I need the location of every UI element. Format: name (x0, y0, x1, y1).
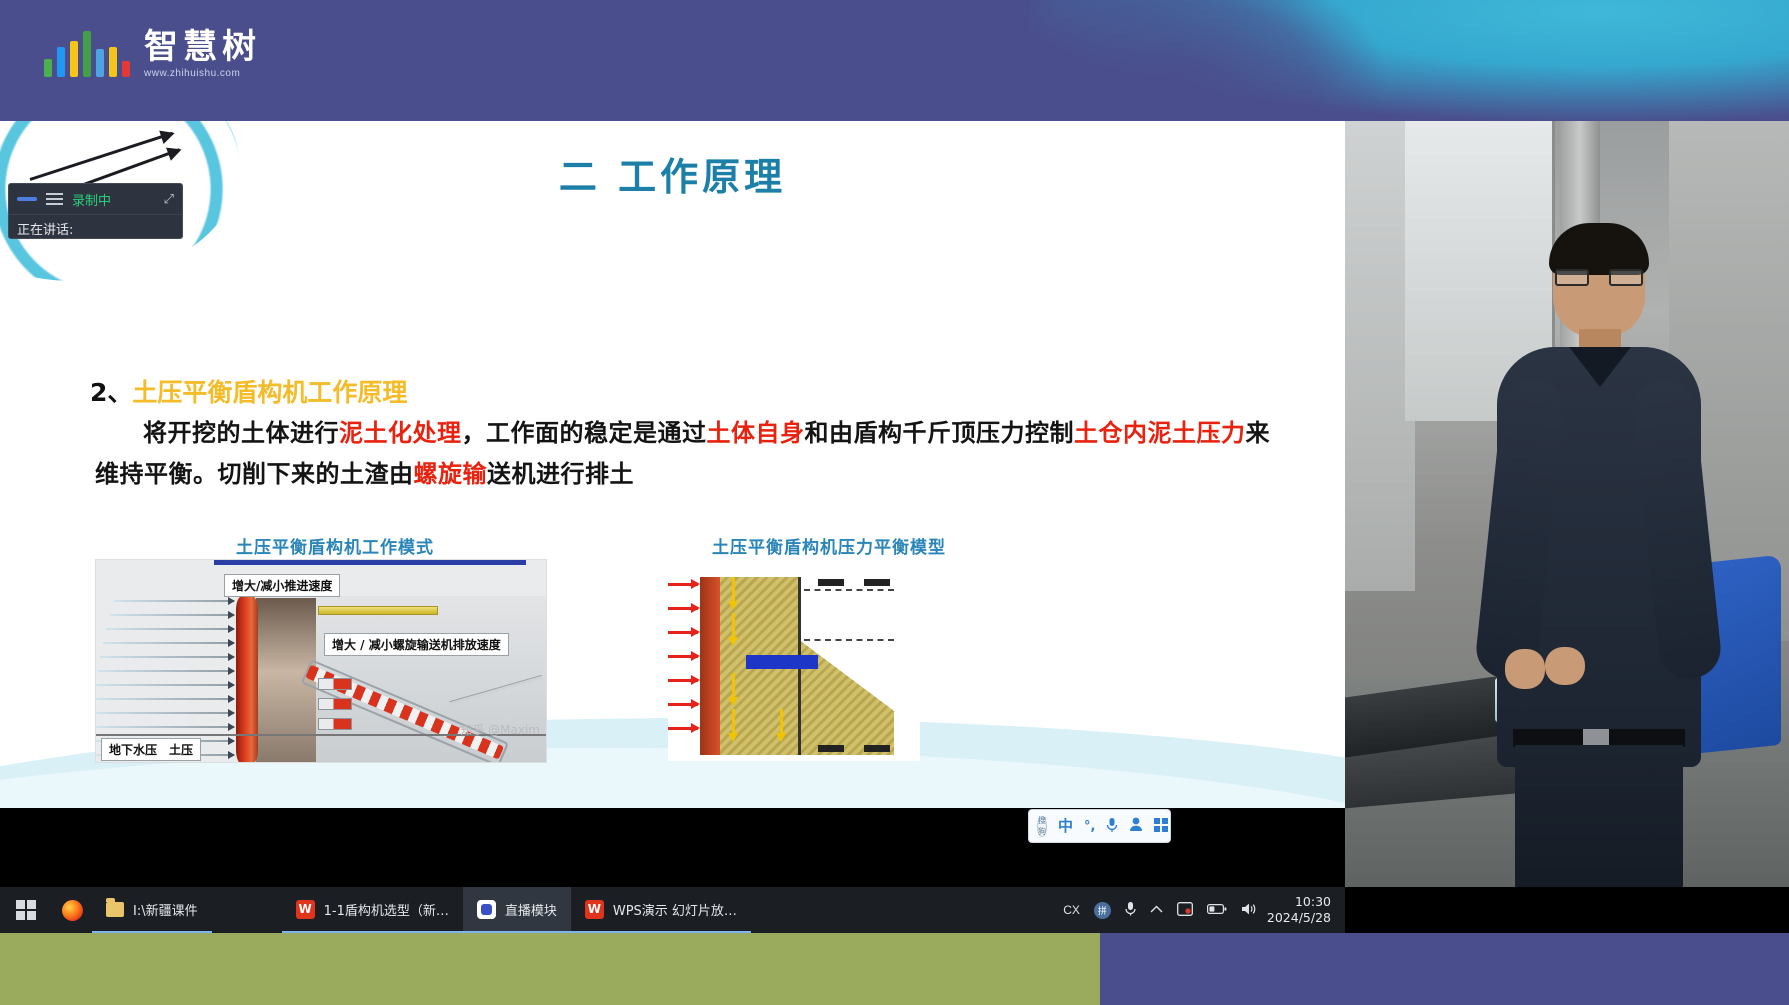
person-icon[interactable] (1129, 817, 1143, 835)
glasses-icon (1555, 269, 1643, 286)
figure-caption-water-earth-pressure: 地下水压 土压 (101, 738, 201, 761)
classroom-camera-feed (1345, 121, 1789, 887)
figure-pressure-balance-model (668, 569, 920, 761)
taskbar-label-live-module: 直播模块 (505, 900, 557, 919)
clock-date: 2024/5/28 (1267, 910, 1331, 926)
figure-caption-screw-speed: 增大 / 减小螺旋输送机排放速度 (324, 633, 509, 656)
tray-screenshot-icon[interactable] (1177, 902, 1193, 919)
wps-icon: W (296, 900, 315, 919)
figure-caption-thrust-speed: 增大/减小推进速度 (224, 574, 340, 597)
taskbar-label-wps-document: 1-1盾构机选型（新… (324, 900, 449, 919)
system-tray: CX 拼 (1063, 901, 1267, 919)
punctuation-icon[interactable]: °, (1084, 820, 1095, 833)
minimize-dash-icon[interactable] (17, 197, 37, 201)
tray-microphone-icon[interactable] (1125, 901, 1136, 919)
taskbar-label-wps-slideshow: WPS演示 幻灯片放… (613, 900, 737, 919)
speaking-label: 正在讲话: (9, 215, 182, 242)
heading-number: 2、 (90, 378, 132, 407)
taskbar-item-live-module[interactable]: 直播模块 (463, 887, 571, 933)
top-banner: 智慧树 www.zhihuishu.com (0, 0, 1789, 121)
paragraph-seg5: 送机进行排土 (487, 460, 634, 488)
expand-arrows-icon[interactable]: ⤢ (164, 191, 174, 207)
paragraph-seg2: ，工作面的稳定是通过 (462, 419, 707, 447)
paragraph-seg1: 将开挖的土体进行 (143, 419, 339, 447)
presenter (1491, 229, 1706, 887)
recording-overlay[interactable]: 录制中 ⤢ 正在讲话: (8, 183, 183, 239)
recording-toolbar: 录制中 ⤢ (9, 184, 182, 215)
slide-heading: 2、土压平衡盾构机工作原理 (90, 373, 407, 409)
figure-right-label: 土压平衡盾构机压力平衡模型 (712, 533, 946, 558)
figure-left-label: 土压平衡盾构机工作模式 (236, 533, 434, 558)
paragraph-red1: 泥土化处理 (339, 419, 462, 447)
taskbar-item-wps-slideshow[interactable]: W WPS演示 幻灯片放… (571, 887, 751, 933)
tray-battery-icon[interactable] (1207, 903, 1227, 918)
sogou-logo-icon[interactable]: 搜狗 (1037, 816, 1047, 837)
logo-bars-icon (44, 31, 130, 77)
tray-ime-badge[interactable]: 拼 (1094, 902, 1111, 919)
windows-start-icon[interactable] (0, 887, 52, 933)
tray-volume-icon[interactable] (1241, 902, 1257, 919)
windows-taskbar: I:\新疆课件 W 1-1盾构机选型（新… 直播模块 W WPS演示 幻灯片放…… (0, 887, 1345, 933)
recording-status: 录制中 (72, 190, 111, 209)
figure-watermark: 知乎 @Maxim (460, 721, 540, 738)
presentation-slide: 二 工作原理 2、土压平衡盾构机工作原理 将开挖的土体进行泥土化处理，工作面的稳… (0, 121, 1345, 808)
logo-title: 智慧树 (144, 30, 261, 64)
slide-title: 二 工作原理 (0, 146, 1345, 201)
ime-mode-toggle[interactable]: 中 (1058, 819, 1073, 834)
heading-highlight: 土压平衡盾构机工作原理 (132, 378, 407, 407)
banner-gradient (1029, 0, 1789, 121)
folder-icon (106, 902, 124, 917)
paragraph-seg3: 和由盾构千斤顶压力控制 (805, 419, 1075, 447)
live-icon (477, 900, 496, 919)
figure-shield-working-mode: 增大/减小推进速度 增大 / 减小螺旋输送机排放速度 地下水压 土压 知乎 @M… (95, 559, 547, 763)
apps-grid-icon[interactable] (1154, 818, 1168, 835)
taskbar-item-file-explorer[interactable]: I:\新疆课件 (92, 887, 212, 933)
taskbar-item-firefox[interactable] (52, 887, 92, 933)
microphone-icon[interactable] (1106, 817, 1118, 836)
logo-url: www.zhihuishu.com (144, 68, 261, 79)
ime-toolbar[interactable]: 搜狗 中 °, (1028, 809, 1171, 843)
screen-root: 智慧树 www.zhihuishu.com 二 工作原理 2、土压平衡盾构机工作… (0, 0, 1789, 1005)
wps-icon: W (585, 900, 604, 919)
menu-lines-icon[interactable] (46, 193, 63, 205)
taskbar-clock[interactable]: 10:30 2024/5/28 (1267, 894, 1345, 926)
paragraph-red4: 螺旋输 (414, 460, 488, 488)
paragraph-red2: 土体自身 (707, 419, 805, 447)
desktop-bottom-green (0, 933, 1100, 1005)
taskbar-label-file-explorer: I:\新疆课件 (133, 900, 198, 919)
slide-paragraph: 将开挖的土体进行泥土化处理，工作面的稳定是通过土体自身和由盾构千斤顶压力控制土仓… (95, 413, 1275, 495)
firefox-icon (62, 900, 83, 921)
tray-chevron-up-icon[interactable] (1150, 903, 1163, 917)
clock-time: 10:30 (1295, 894, 1331, 910)
paragraph-red3: 土仓内泥土压力 (1074, 419, 1246, 447)
tray-ime-label[interactable]: CX (1063, 903, 1080, 917)
zhihuishu-logo: 智慧树 www.zhihuishu.com (44, 28, 261, 77)
taskbar-item-wps-document[interactable]: W 1-1盾构机选型（新… (282, 887, 463, 933)
